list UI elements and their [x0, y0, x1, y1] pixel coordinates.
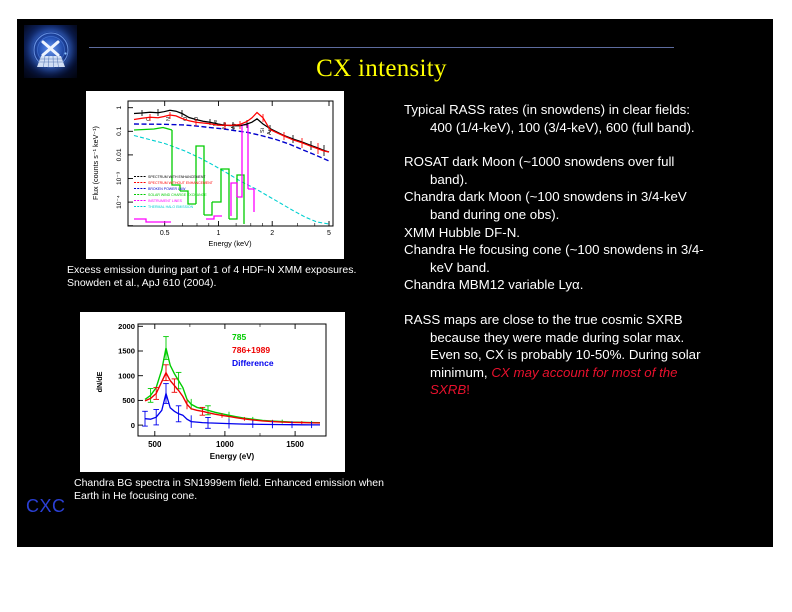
body-paragraph-2: ROSAT dark Moon (~1000 snowdens over ful… [404, 153, 714, 188]
svg-text:SOLAR WIND CHARGE EXCHANGE: SOLAR WIND CHARGE EXCHANGE [148, 193, 207, 197]
svg-text:10⁻³: 10⁻³ [116, 171, 123, 185]
title-divider [89, 47, 674, 48]
svg-text:0.01: 0.01 [116, 148, 123, 161]
svg-text:1500: 1500 [118, 347, 135, 356]
body-paragraph-7-emphasis-tail: ! [466, 382, 470, 397]
svg-text:1500: 1500 [286, 440, 304, 449]
body-paragraph-5: Chandra He focusing cone (~100 snowdens … [404, 241, 714, 276]
svg-text:1: 1 [116, 106, 123, 110]
svg-text:2000: 2000 [118, 322, 135, 331]
svg-text:BROKEN POWER LAW: BROKEN POWER LAW [148, 187, 186, 191]
chart-1-xlabel: Energy (keV) [208, 239, 251, 248]
slide-canvas: CX intensity [16, 18, 774, 548]
svg-text:0.1: 0.1 [116, 126, 123, 135]
chart-2-canvas: 500 1000 1500 Energy (eV) 0 500 1000 150… [80, 312, 345, 472]
figure-sn1999em-bg-spectra: 500 1000 1500 Energy (eV) 0 500 1000 150… [80, 312, 345, 472]
logo-artwork [24, 25, 77, 78]
svg-text:SPECTRUM WITH ENHANCEMENT: SPECTRUM WITH ENHANCEMENT [148, 175, 206, 179]
svg-text:THERMAL HALO EMISSION: THERMAL HALO EMISSION [148, 205, 194, 209]
figure-1-caption: Excess emission during part of 1 of 4 HD… [67, 264, 367, 290]
body-paragraph-3: Chandra dark Moon (~100 snowdens in 3/4-… [404, 188, 714, 223]
chart-1-canvas: 0.5 1 2 5 Energy (keV) 1 0.1 0.01 10⁻³ 1 [86, 91, 344, 259]
figure-2-caption: Chandra BG spectra in SN1999em field. En… [74, 477, 404, 503]
svg-text:SPECTRUM WITHOUT ENHANCEMENT: SPECTRUM WITHOUT ENHANCEMENT [148, 181, 214, 185]
chart-2-ylabel: dN/dE [95, 371, 104, 392]
figure-hdfn-xmm-spectrum: 0.5 1 2 5 Energy (keV) 1 0.1 0.01 10⁻³ 1 [86, 91, 344, 259]
body-paragraph-1: Typical RASS rates (in snowdens) in clea… [404, 101, 714, 136]
svg-text:5: 5 [327, 230, 331, 237]
chart-2-legend-785: 785 [232, 332, 246, 342]
svg-text:1: 1 [217, 230, 221, 237]
body-paragraph-7: RASS maps are close to the true cosmic S… [404, 311, 714, 399]
body-paragraph-6: Chandra MBM12 variable Lyα. [404, 276, 714, 294]
svg-text:10⁻⁴: 10⁻⁴ [116, 195, 123, 209]
body-text-block: Typical RASS rates (in snowdens) in clea… [404, 101, 714, 399]
chandra-x-ray-center-logo [24, 25, 77, 78]
chart-2-legend-786-1989: 786+1989 [232, 345, 270, 355]
chart-2-xlabel: Energy (eV) [210, 452, 255, 461]
svg-text:0: 0 [131, 421, 135, 430]
page-title: CX intensity [89, 54, 674, 84]
svg-text:2: 2 [270, 230, 274, 237]
svg-text:500: 500 [122, 396, 135, 405]
svg-text:N: N [166, 117, 172, 121]
svg-text:1000: 1000 [216, 440, 234, 449]
svg-text:INSTRUMENT LINES: INSTRUMENT LINES [148, 199, 183, 203]
chart-2-legend-difference: Difference [232, 358, 274, 368]
footer-cxc-label: CXC [26, 496, 66, 517]
svg-text:Si: Si [260, 128, 266, 133]
svg-text:1000: 1000 [118, 371, 135, 380]
svg-text:0.5: 0.5 [160, 230, 170, 237]
svg-text:500: 500 [148, 440, 162, 449]
chart-1-ylabel: Flux (counts s⁻¹ keV⁻¹) [91, 126, 100, 200]
body-paragraph-4: XMM Hubble DF-N. [404, 224, 714, 242]
